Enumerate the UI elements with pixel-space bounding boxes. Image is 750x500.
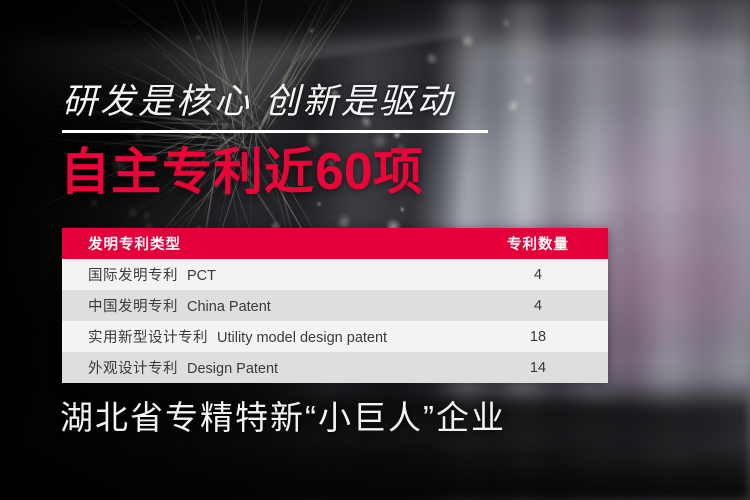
cell-patent-count: 18 [478, 321, 608, 352]
table-row: 国际发明专利PCT4 [62, 259, 608, 290]
cell-patent-type: 中国发明专利China Patent [62, 290, 478, 321]
patent-table-head: 发明专利类型 专利数量 [62, 228, 608, 259]
table-row: 实用新型设计专利Utility model design patent18 [62, 321, 608, 352]
promo-banner: 研发是核心 创新是驱动 自主专利近60项 发明专利类型 专利数量 国际发明专利P… [0, 0, 750, 500]
patent-table-body: 国际发明专利PCT4中国发明专利China Patent4实用新型设计专利Uti… [62, 259, 608, 383]
cell-patent-count: 4 [478, 290, 608, 321]
headline-subtitle: 研发是核心 创新是驱动 [62, 82, 455, 121]
column-header-count: 专利数量 [478, 228, 608, 259]
patent-type-en: Utility model design patent [217, 330, 387, 346]
patent-type-cn: 中国发明专利 [88, 299, 178, 315]
patent-table-header-row: 发明专利类型 专利数量 [62, 228, 608, 259]
headline-main-prefix: 自主专利近 [60, 144, 315, 200]
patent-table: 发明专利类型 专利数量 国际发明专利PCT4中国发明专利China Patent… [62, 228, 608, 383]
patent-type-cn: 实用新型设计专利 [88, 330, 208, 346]
patent-type-en: China Patent [187, 299, 271, 315]
patent-type-cn: 外观设计专利 [88, 361, 178, 377]
headline-main: 自主专利近60项 [60, 145, 424, 200]
cell-patent-type: 国际发明专利PCT [62, 259, 478, 290]
table-row: 中国发明专利China Patent4 [62, 290, 608, 321]
table-row: 外观设计专利Design Patent14 [62, 352, 608, 383]
cell-patent-count: 14 [478, 352, 608, 383]
column-header-type: 发明专利类型 [62, 228, 478, 259]
footer-tagline: 湖北省专精特新“小巨人”企业 [60, 400, 506, 436]
cell-patent-count: 4 [478, 259, 608, 290]
headline-main-number: 60 [315, 143, 373, 201]
patent-type-en: Design Patent [187, 361, 278, 377]
cell-patent-type: 外观设计专利Design Patent [62, 352, 478, 383]
headline-divider [62, 130, 488, 133]
patent-type-en: PCT [187, 268, 216, 284]
cell-patent-type: 实用新型设计专利Utility model design patent [62, 321, 478, 352]
patent-type-cn: 国际发明专利 [88, 268, 178, 284]
headline-main-suffix: 项 [373, 144, 424, 200]
